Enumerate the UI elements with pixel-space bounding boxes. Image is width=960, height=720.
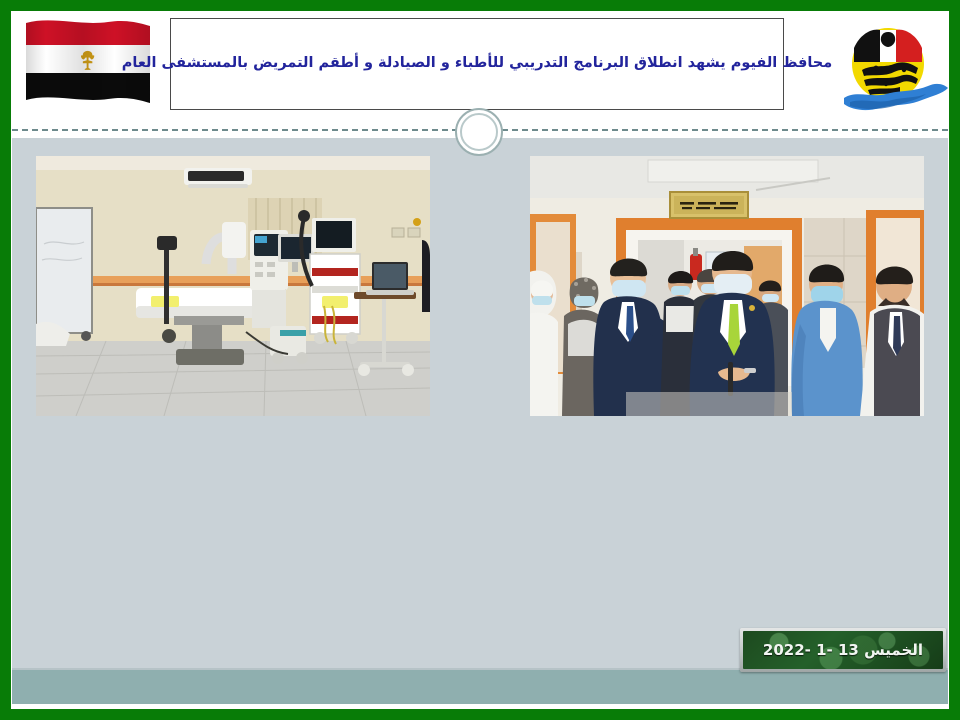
date-text: الخميس 13 -1 -2022 [763,641,923,659]
date-badge-inner: الخميس 13 -1 -2022 [743,631,943,669]
headline-box: محافظ الفيوم يشهد انطلاق البرنامج التدري… [170,18,784,110]
footer-band [12,668,948,704]
page-title: محافظ الفيوم يشهد انطلاق البرنامج التدري… [122,54,832,74]
photo-officials-tour [530,156,924,416]
slide-body-panel [12,138,948,668]
fayoum-governorate-logo-icon [830,18,950,122]
ring-divider-ornament-icon [455,108,503,156]
date-badge: الخميس 13 -1 -2022 [740,628,946,672]
news-slide: محافظ الفيوم يشهد انطلاق البرنامج التدري… [0,0,960,720]
photo-endoscopy-room [36,156,430,416]
